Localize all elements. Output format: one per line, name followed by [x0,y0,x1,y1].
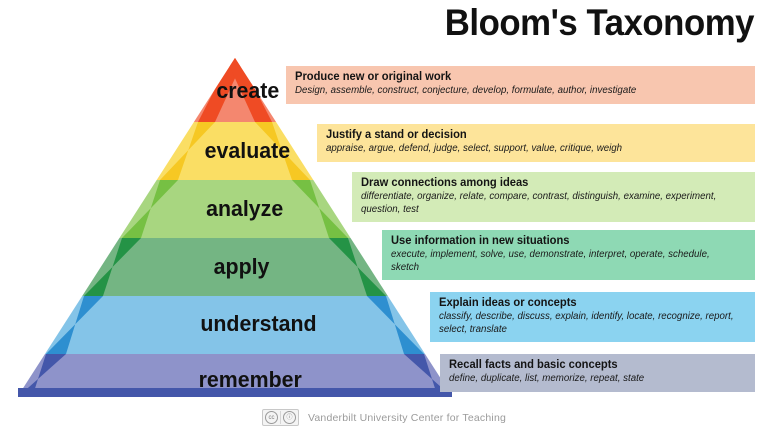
desc-heading-create: Produce new or original work [295,71,733,84]
cc-by-attribution-icon: ⓘ [283,411,296,424]
desc-box-remember: Recall facts and basic concepts define, … [440,354,755,392]
bloom-taxonomy-diagram: Bloom's Taxonomy [0,0,768,432]
desc-box-evaluate: Justify a stand or decision appraise, ar… [317,124,755,162]
desc-heading-understand: Explain ideas or concepts [439,297,738,310]
desc-box-understand: Explain ideas or concepts classify, desc… [430,292,755,342]
desc-verbs-remember: define, duplicate, list, memorize, repea… [449,373,738,386]
desc-verbs-understand: classify, describe, discuss, explain, id… [439,311,738,336]
desc-box-analyze: Draw connections among ideas differentia… [352,172,755,222]
desc-box-apply: Use information in new situations execut… [382,230,755,280]
band-label-analyze: analyze [103,196,283,222]
attribution-text: Vanderbilt University Center for Teachin… [308,412,506,424]
footer: cc ⓘ Vanderbilt University Center for Te… [0,409,768,426]
desc-heading-evaluate: Justify a stand or decision [326,129,734,142]
band-label-remember: remember [93,367,302,393]
page-title: Bloom's Taxonomy [445,2,754,44]
band-label-evaluate: evaluate [103,138,290,164]
desc-verbs-apply: execute, implement, solve, use, demonstr… [391,249,736,274]
desc-verbs-analyze: differentiate, organize, relate, compare… [361,191,735,216]
cc-badge-divider [280,411,281,424]
band-label-apply: apply [103,254,270,280]
band-label-understand: understand [93,311,316,337]
cc-logo-icon: cc [265,411,278,424]
band-label-create: create [103,78,280,104]
desc-verbs-create: Design, assemble, construct, conjecture,… [295,85,733,98]
desc-box-create: Produce new or original work Design, ass… [286,66,755,104]
creative-commons-badge: cc ⓘ [262,409,299,426]
desc-heading-remember: Recall facts and basic concepts [449,359,738,372]
desc-verbs-evaluate: appraise, argue, defend, judge, select, … [326,143,734,156]
desc-heading-apply: Use information in new situations [391,235,736,248]
desc-heading-analyze: Draw connections among ideas [361,177,735,190]
